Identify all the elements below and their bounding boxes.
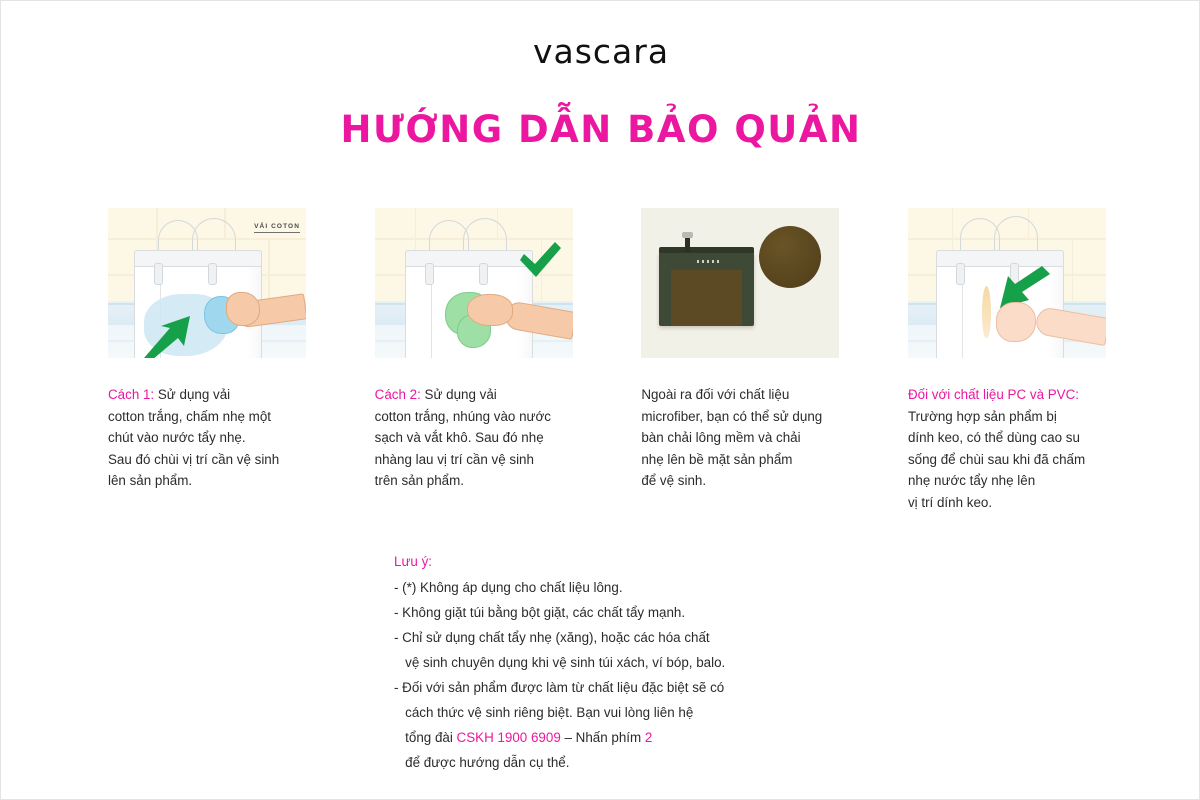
handle-tab-left bbox=[154, 263, 163, 285]
card-3-line-4: để vệ sinh. bbox=[641, 473, 706, 488]
card-1-line-3: Sau đó chùi vị trí cần vệ sinh bbox=[108, 452, 279, 467]
note-last-line: để được hướng dẫn cụ thể. bbox=[394, 750, 914, 775]
care-method-card-1: VẢI COTON Cách 1: Sử dụng vải cotton trắ… bbox=[108, 208, 306, 513]
card-2-heading: Cách 2: bbox=[375, 387, 421, 402]
card-2-line-1: cotton trắng, nhúng vào nước bbox=[375, 409, 551, 424]
wallet-icon bbox=[659, 252, 754, 326]
hotline-number[interactable]: CSKH 1900 6909 bbox=[457, 730, 561, 745]
card-1-heading: Cách 1: bbox=[108, 387, 154, 402]
card-1-line-2: chút vào nước tẩy nhẹ. bbox=[108, 430, 246, 445]
hand-icon bbox=[996, 302, 1036, 342]
note-hotline-prefix: tổng đài bbox=[394, 730, 457, 745]
illustration-wipe-with-wrung-cotton-cloth bbox=[375, 208, 573, 358]
green-arrow-icon bbox=[140, 314, 194, 358]
stain-icon bbox=[982, 286, 991, 338]
wallet-front-panel bbox=[671, 270, 742, 326]
card-1-line-1: cotton trắng, chấm nhẹ một bbox=[108, 409, 271, 424]
note-title: Lưu ý: bbox=[394, 549, 914, 574]
card-4-line-4: vị trí dính keo. bbox=[908, 495, 992, 510]
hand-icon bbox=[467, 294, 513, 326]
note-hotline-middle: – Nhấn phím bbox=[561, 730, 645, 745]
card-3-line-0: Ngoài ra đối với chất liệu bbox=[641, 387, 789, 402]
card-1-text: Cách 1: Sử dụng vải cotton trắng, chấm n… bbox=[108, 384, 338, 492]
care-guide-page: vascara HƯỚNG DẪN BẢO QUẢN bbox=[0, 0, 1200, 800]
card-3-line-3: nhẹ lên bề mặt sản phẩm bbox=[641, 452, 792, 467]
page-title: HƯỚNG DẪN BẢO QUẢN bbox=[1, 108, 1200, 152]
card-3-line-2: bàn chải lông mềm và chải bbox=[641, 430, 800, 445]
illustration-remove-glue-stain-with-rubber bbox=[908, 208, 1106, 358]
wallet-zipper bbox=[659, 247, 754, 253]
card-2-line-0: Sử dụng vải bbox=[421, 387, 497, 402]
illustration-wipe-with-damp-cotton-cloth: VẢI COTON bbox=[108, 208, 306, 358]
note-line-2: - Chỉ sử dụng chất tẩy nhẹ (xăng), hoặc … bbox=[394, 625, 914, 650]
card-2-line-3: nhàng lau vị trí cần vệ sinh bbox=[375, 452, 534, 467]
note-line-4: - Đối với sản phẩm được làm từ chất liệu… bbox=[394, 675, 914, 700]
care-method-card-2: Cách 2: Sử dụng vải cotton trắng, nhúng … bbox=[375, 208, 573, 513]
handle-tab-left bbox=[956, 263, 965, 285]
handle-tab-right bbox=[208, 263, 217, 285]
illustration-label: VẢI COTON bbox=[254, 223, 300, 233]
card-2-line-2: sạch và vắt khô. Sau đó nhẹ bbox=[375, 430, 544, 445]
card-2-text: Cách 2: Sử dụng vải cotton trắng, nhúng … bbox=[375, 384, 605, 492]
wallet-zipper-pull-head bbox=[682, 232, 693, 238]
wallet-zipper-pull bbox=[685, 236, 690, 252]
card-4-line-2: sống để chùi sau khi đã chấm bbox=[908, 452, 1085, 467]
care-method-card-grid: VẢI COTON Cách 1: Sử dụng vải cotton trắ… bbox=[108, 208, 1106, 513]
card-4-text: Đối với chất liệu PC và PVC: Trường hợp … bbox=[908, 384, 1138, 513]
note-hotline-line: tổng đài CSKH 1900 6909 – Nhấn phím 2 bbox=[394, 725, 914, 750]
handle-tab-right bbox=[479, 263, 488, 285]
card-3-text: Ngoài ra đối với chất liệu microfiber, b… bbox=[641, 384, 871, 492]
handle-tab-left bbox=[425, 263, 434, 285]
card-4-line-0: Trường hợp sản phẩm bị bbox=[908, 409, 1057, 424]
card-4-line-3: nhẹ nước tẩy nhẹ lên bbox=[908, 473, 1035, 488]
card-4-heading: Đối với chất liệu PC và PVC: bbox=[908, 387, 1079, 402]
care-method-card-3: Ngoài ra đối với chất liệu microfiber, b… bbox=[641, 208, 839, 513]
note-block: Lưu ý: - (*) Không áp dụng cho chất liệu… bbox=[394, 549, 914, 775]
wallet-logo-studs bbox=[697, 260, 719, 263]
brand-logo: vascara bbox=[1, 32, 1200, 72]
material-swatch-circle-icon bbox=[759, 226, 821, 288]
note-line-1: - Không giặt túi bằng bột giặt, các chất… bbox=[394, 600, 914, 625]
hand-icon bbox=[226, 292, 260, 326]
card-1-line-4: lên sản phẩm. bbox=[108, 473, 192, 488]
note-line-3: vệ sinh chuyên dụng khi vệ sinh túi xách… bbox=[394, 650, 914, 675]
bag-flap bbox=[405, 250, 533, 267]
hotline-key: 2 bbox=[645, 730, 652, 745]
card-4-line-1: dính keo, có thể dùng cao su bbox=[908, 430, 1080, 445]
note-line-5: cách thức vệ sinh riêng biệt. Bạn vui lò… bbox=[394, 700, 914, 725]
card-3-line-1: microfiber, bạn có thể sử dụng bbox=[641, 409, 822, 424]
photo-green-wallet-with-microfiber-swatch bbox=[641, 208, 839, 358]
card-1-line-0: Sử dụng vải bbox=[154, 387, 230, 402]
card-2-line-4: trên sản phẩm. bbox=[375, 473, 464, 488]
green-check-icon bbox=[517, 240, 563, 280]
care-method-card-4: Đối với chất liệu PC và PVC: Trường hợp … bbox=[908, 208, 1106, 513]
note-line-0: - (*) Không áp dụng cho chất liệu lông. bbox=[394, 575, 914, 600]
